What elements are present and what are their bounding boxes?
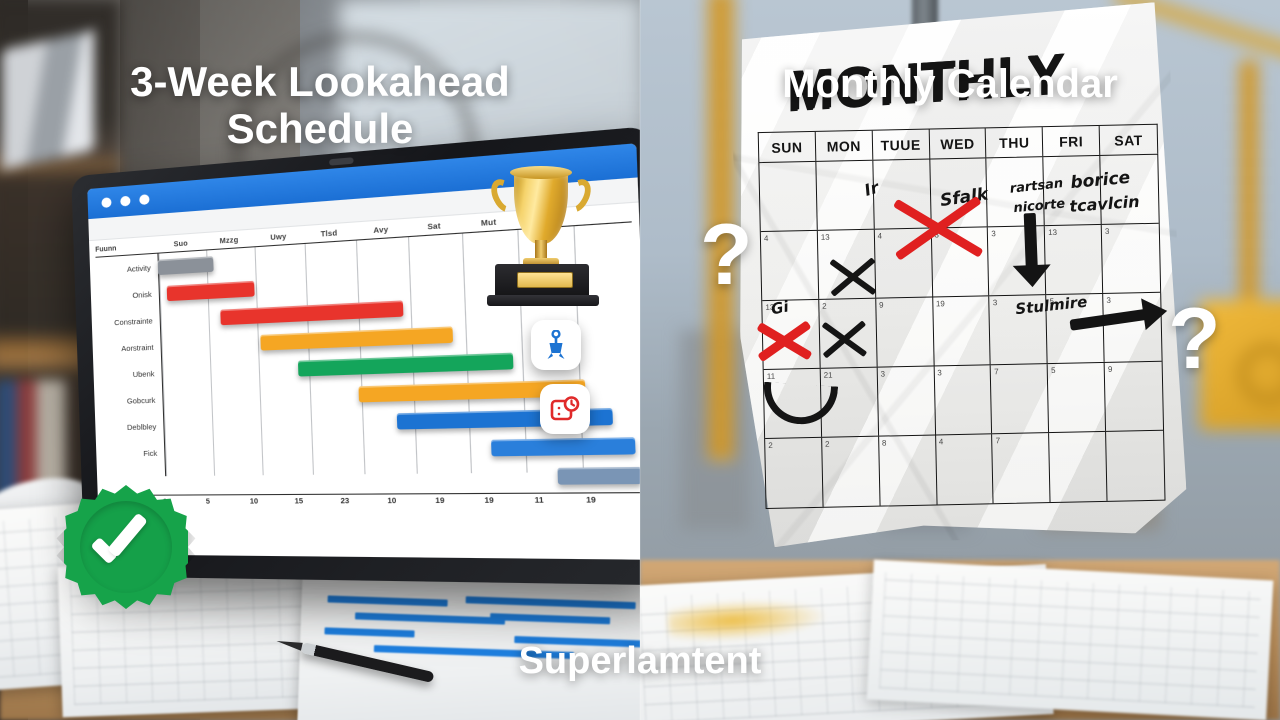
calendar-day-cell[interactable] bbox=[987, 157, 1045, 226]
trophy-rim bbox=[510, 166, 572, 179]
calendar-day-number: 3 bbox=[1105, 227, 1110, 236]
calendar-day-cell[interactable] bbox=[816, 161, 874, 230]
weekday-sat: SAT bbox=[1100, 125, 1157, 155]
calendar-day-cell[interactable] bbox=[930, 158, 988, 227]
trophy-cup bbox=[514, 170, 568, 244]
calendar-day-cell[interactable]: 5 bbox=[1048, 363, 1106, 432]
calendar-day-number: 13 bbox=[765, 303, 774, 312]
calendar-day-number: 8 bbox=[882, 438, 887, 447]
calendar-day-number: 3 bbox=[937, 368, 942, 377]
calendar-day-cell[interactable] bbox=[1049, 432, 1107, 502]
trophy-pedestal bbox=[495, 264, 589, 298]
weekday-mon: MON bbox=[816, 131, 873, 161]
calendar-day-cell[interactable]: 7 bbox=[991, 364, 1049, 433]
trophy-stem bbox=[535, 240, 547, 260]
calendar-day-cell[interactable]: 3 bbox=[877, 366, 935, 435]
gantt-col-0: Suo bbox=[157, 239, 205, 249]
gantt-col-5: Sat bbox=[407, 222, 461, 233]
gantt-col-4: Avy bbox=[355, 225, 408, 236]
calendar-day-cell[interactable]: 2 bbox=[819, 299, 877, 368]
calendar-day-cell[interactable]: 4 bbox=[761, 231, 819, 300]
gantt-col-1: Mzzg bbox=[205, 236, 254, 247]
screenshot-canvas: Fuunn Suo Mzzg Uwy Tlsd Avy Sat Mut Sauh bbox=[0, 0, 1280, 720]
gantt-bar[interactable] bbox=[297, 352, 513, 376]
gantt-row-track bbox=[165, 460, 640, 493]
left-panel-title: 3-Week Lookahead Schedule bbox=[40, 58, 600, 152]
calendar-day-number: 3 bbox=[880, 370, 885, 379]
calendar-day-cell[interactable] bbox=[1044, 156, 1102, 225]
gantt-row-label: Constrainte bbox=[98, 315, 160, 327]
calendar-day-number: 5 bbox=[1050, 297, 1055, 306]
calendar-day-number: 7 bbox=[994, 367, 999, 376]
red-timer-icon bbox=[550, 395, 580, 423]
calendar-day-number: 2 bbox=[825, 440, 830, 449]
calendar-day-cell[interactable]: 13 bbox=[762, 300, 820, 369]
gantt-row-label: Onisk bbox=[97, 289, 159, 302]
calendar-day-number: 2 bbox=[768, 441, 773, 450]
calendar-day-cell[interactable]: 4 bbox=[874, 229, 932, 298]
calendar-day-cell[interactable]: 3 bbox=[931, 227, 989, 296]
calendar-week-row: 22847 bbox=[765, 431, 1164, 508]
weekday-sun: SUN bbox=[759, 132, 816, 162]
gold-trophy-icon bbox=[487, 164, 595, 314]
calendar-week-row: 413433133 bbox=[761, 224, 1160, 301]
right-panel-title: Monthly Calendar bbox=[650, 62, 1250, 107]
gantt-row-label: Activity bbox=[96, 262, 158, 275]
calendar-day-number: 11 bbox=[767, 372, 775, 381]
calendar-day-cell[interactable]: 3 bbox=[990, 295, 1048, 364]
green-verified-check-badge bbox=[64, 485, 188, 609]
calendar-day-cell[interactable]: 13 bbox=[818, 230, 876, 299]
gantt-bar[interactable] bbox=[260, 326, 452, 350]
checkmark-icon bbox=[95, 523, 153, 553]
calendar-day-number: 5 bbox=[1051, 366, 1056, 375]
gantt-axis-ticks: 051015231019191119 bbox=[166, 497, 640, 506]
question-mark-icon-1: ? bbox=[700, 206, 753, 305]
gantt-axis-tick: 5 bbox=[206, 498, 253, 505]
question-mark-icon-2: ? bbox=[1168, 290, 1221, 389]
calendar-day-cell[interactable]: 4 bbox=[936, 434, 994, 504]
calendar-day-number: 9 bbox=[1108, 365, 1113, 374]
calendar-day-number: 4 bbox=[764, 234, 769, 243]
black-down-arrow bbox=[1024, 213, 1038, 271]
gantt-axis-tick: 23 bbox=[340, 498, 391, 506]
calendar-day-cell[interactable]: 9 bbox=[876, 297, 934, 366]
weekday-tue: TUUE bbox=[872, 130, 929, 160]
calendar-day-cell[interactable]: 8 bbox=[879, 435, 937, 505]
yellow-highlight-mark bbox=[667, 596, 829, 644]
window-close-dot[interactable] bbox=[101, 197, 111, 208]
window-minimize-dot[interactable] bbox=[120, 196, 130, 207]
calendar-week-row: 132919353 bbox=[762, 293, 1161, 370]
gantt-row-label: Deblbley bbox=[101, 422, 163, 433]
blue-award-icon bbox=[543, 330, 569, 360]
weekday-wed: WED bbox=[929, 128, 986, 158]
calendar-day-number: 2 bbox=[822, 302, 827, 311]
window-maximize-dot[interactable] bbox=[139, 194, 149, 205]
calendar-day-number: 21 bbox=[824, 371, 833, 380]
gantt-corner-label: Fuunn bbox=[95, 242, 157, 253]
trophy-base-lip bbox=[487, 295, 599, 306]
calendar-week-rows: 41343313313291935311213375922847 bbox=[758, 154, 1165, 509]
calendar-day-cell[interactable]: 13 bbox=[1045, 225, 1103, 294]
blue-award-badge-card[interactable] bbox=[531, 320, 581, 370]
weekday-thu: THU bbox=[986, 127, 1043, 157]
gantt-row-label bbox=[103, 479, 165, 480]
gantt-axis-tick: 19 bbox=[484, 497, 538, 505]
calendar-day-number: 7 bbox=[996, 436, 1001, 445]
calendar-day-cell[interactable] bbox=[1106, 431, 1164, 501]
calendar-week-row bbox=[759, 155, 1158, 232]
gantt-row-label: Ubenk bbox=[99, 368, 161, 379]
gantt-col-3: Tlsd bbox=[303, 229, 355, 240]
gantt-axis-tick: 19 bbox=[435, 497, 488, 505]
gantt-bar[interactable] bbox=[167, 280, 255, 300]
calendar-day-number: 3 bbox=[1106, 296, 1111, 305]
calendar-day-cell[interactable]: 3 bbox=[934, 365, 992, 434]
calendar-day-number: 4 bbox=[939, 437, 944, 446]
calendar-day-number: 13 bbox=[1048, 228, 1057, 237]
footer-caption: Superlamtent bbox=[0, 640, 1280, 683]
calendar-day-cell[interactable]: 7 bbox=[993, 433, 1051, 503]
calendar-day-cell[interactable] bbox=[873, 160, 931, 229]
gantt-axis-tick: 15 bbox=[295, 498, 344, 506]
front-camera-icon bbox=[329, 157, 354, 165]
gantt-row-label: Gobcurk bbox=[100, 395, 162, 406]
calendar-day-cell[interactable] bbox=[1100, 155, 1158, 224]
calendar-day-cell[interactable]: 19 bbox=[933, 296, 991, 365]
gantt-axis-tick: 10 bbox=[250, 498, 298, 506]
weekday-fri: FRI bbox=[1043, 126, 1100, 156]
calendar-day-number: 9 bbox=[879, 301, 884, 310]
calendar-day-number: 3 bbox=[993, 298, 998, 307]
red-timer-badge-card[interactable] bbox=[540, 384, 590, 434]
calendar-day-cell[interactable]: 2 bbox=[765, 438, 823, 508]
gantt-bar[interactable] bbox=[158, 256, 214, 275]
calendar-day-number: 13 bbox=[821, 233, 830, 242]
gantt-axis-tick: 10 bbox=[387, 498, 439, 506]
calendar-day-cell[interactable] bbox=[759, 162, 817, 231]
calendar-day-cell[interactable]: 2 bbox=[822, 437, 880, 507]
calendar-day-cell[interactable]: 3 bbox=[1102, 224, 1160, 293]
gantt-axis-tick: 11 bbox=[535, 497, 590, 505]
calendar-day-number: 4 bbox=[878, 232, 883, 241]
gantt-axis-tick: 19 bbox=[586, 497, 640, 505]
gantt-bar[interactable] bbox=[220, 300, 403, 325]
gantt-bar[interactable] bbox=[558, 466, 641, 484]
gantt-row-label: Fick bbox=[102, 448, 164, 458]
calendar-day-number: 19 bbox=[936, 299, 945, 308]
gantt-bar[interactable] bbox=[491, 437, 636, 456]
calendar-day-cell[interactable]: 9 bbox=[1105, 362, 1163, 431]
gantt-col-2: Uwy bbox=[253, 232, 303, 243]
panel-divider bbox=[639, 0, 641, 720]
calendar-day-number: 3 bbox=[934, 230, 939, 239]
trophy-plaque bbox=[517, 272, 573, 288]
calendar-day-number: 3 bbox=[991, 229, 996, 238]
gantt-row-label: Aorstraint bbox=[98, 342, 160, 354]
